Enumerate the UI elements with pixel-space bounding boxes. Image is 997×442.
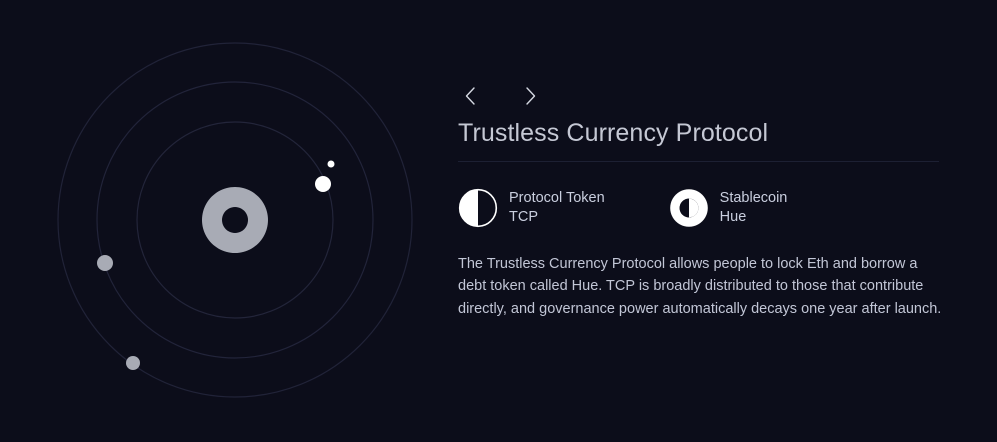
- carousel-prev-button[interactable]: [458, 82, 482, 110]
- protocol-info-panel: Trustless Currency Protocol Protocol Tok…: [458, 0, 958, 442]
- chevron-left-icon: [464, 86, 477, 106]
- token-label-group: Protocol Token TCP: [509, 189, 605, 228]
- planet-left-gray: [97, 255, 113, 271]
- chevron-right-icon: [524, 86, 537, 106]
- token-badge-stablecoin[interactable]: Stablecoin Hue: [669, 188, 788, 228]
- token-kind: Stablecoin: [720, 189, 788, 208]
- orbital-system-diagram: [0, 0, 450, 442]
- app-screen: Trustless Currency Protocol Protocol Tok…: [0, 0, 997, 442]
- token-badge-list: Protocol Token TCP Stablecoin Hue: [458, 188, 787, 228]
- carousel-next-button[interactable]: [518, 82, 542, 110]
- token-symbol: TCP: [509, 208, 605, 227]
- carousel-nav: [458, 82, 542, 110]
- ring-half-inverted-icon: [669, 188, 709, 228]
- token-badge-protocol-token[interactable]: Protocol Token TCP: [458, 188, 605, 228]
- token-symbol: Hue: [720, 208, 788, 227]
- planet-large-white: [315, 176, 331, 192]
- page-title: Trustless Currency Protocol: [458, 119, 768, 148]
- orbital-system-svg: [0, 0, 450, 442]
- planet-bottom-gray: [126, 356, 140, 370]
- token-kind: Protocol Token: [509, 189, 605, 208]
- orbit-ring-middle: [97, 82, 373, 358]
- protocol-description: The Trustless Currency Protocol allows p…: [458, 253, 945, 320]
- half-moon-left-filled-icon: [458, 188, 498, 228]
- orbit-ring-inner: [137, 122, 333, 318]
- orbit-ring-outer: [58, 43, 412, 397]
- token-label-group: Stablecoin Hue: [720, 189, 788, 228]
- planet-small-white: [328, 161, 335, 168]
- core-donut-icon: [202, 187, 268, 253]
- divider: [458, 161, 939, 162]
